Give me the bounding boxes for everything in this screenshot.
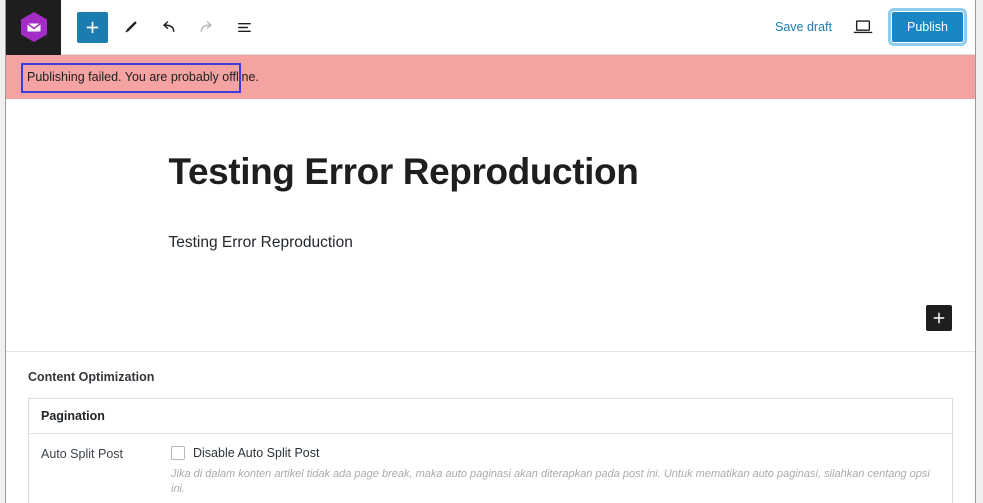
auto-split-help-text: Jika di dalam konten artikel tidak ada p… bbox=[171, 467, 940, 498]
plus-icon bbox=[85, 20, 100, 35]
post-title-field[interactable]: Testing Error Reproduction bbox=[161, 149, 821, 195]
undo-arrow-icon bbox=[159, 18, 178, 37]
redo-arrow-icon bbox=[197, 18, 216, 37]
browser-window-frame: Save draft Publish Publishing failed. Yo… bbox=[5, 0, 976, 503]
redo-button[interactable] bbox=[190, 11, 222, 43]
publish-error-notice: Publishing failed. You are probably offl… bbox=[6, 55, 975, 99]
header-left-tool-group bbox=[61, 11, 260, 43]
metabox-title: Content Optimization bbox=[28, 370, 953, 384]
auto-split-post-field: Disable Auto Split Post Jika di dalam ko… bbox=[171, 446, 940, 498]
auto-split-post-label: Auto Split Post bbox=[41, 446, 171, 498]
editor-app: Save draft Publish Publishing failed. Yo… bbox=[0, 0, 983, 503]
preview-button[interactable] bbox=[848, 12, 878, 42]
editor-header-toolbar: Save draft Publish bbox=[6, 0, 975, 55]
plus-icon bbox=[932, 311, 946, 325]
block-appender-button[interactable] bbox=[926, 305, 952, 331]
preview-monitor-icon bbox=[853, 18, 873, 36]
disable-auto-split-checkbox-line: Disable Auto Split Post bbox=[171, 446, 940, 460]
header-right-tool-group: Save draft Publish bbox=[773, 12, 975, 42]
pencil-icon bbox=[122, 19, 139, 36]
editor-canvas: Testing Error Reproduction Testing Error… bbox=[6, 99, 975, 351]
disable-auto-split-checkbox[interactable] bbox=[171, 446, 185, 460]
save-draft-button[interactable]: Save draft bbox=[773, 16, 834, 38]
notice-message-text: Publishing failed. You are probably offl… bbox=[24, 67, 262, 87]
add-block-button[interactable] bbox=[77, 12, 108, 43]
list-view-button[interactable] bbox=[228, 11, 260, 43]
metabox-content-optimization: Content Optimization Pagination Auto Spl… bbox=[6, 351, 975, 503]
undo-button[interactable] bbox=[152, 11, 184, 43]
table-row: Auto Split Post Disable Auto Split Post … bbox=[29, 434, 952, 503]
post-paragraph-block[interactable]: Testing Error Reproduction bbox=[161, 231, 821, 256]
tools-pencil-button[interactable] bbox=[114, 11, 146, 43]
publish-button[interactable]: Publish bbox=[892, 12, 963, 42]
pagination-settings-card: Pagination Auto Split Post Disable Auto … bbox=[28, 398, 953, 503]
list-view-icon bbox=[235, 18, 254, 37]
pagination-card-header: Pagination bbox=[29, 399, 952, 434]
disable-auto-split-label[interactable]: Disable Auto Split Post bbox=[193, 446, 319, 460]
site-logo-button[interactable] bbox=[6, 0, 61, 55]
mail-hexagon-logo-icon bbox=[19, 11, 49, 43]
